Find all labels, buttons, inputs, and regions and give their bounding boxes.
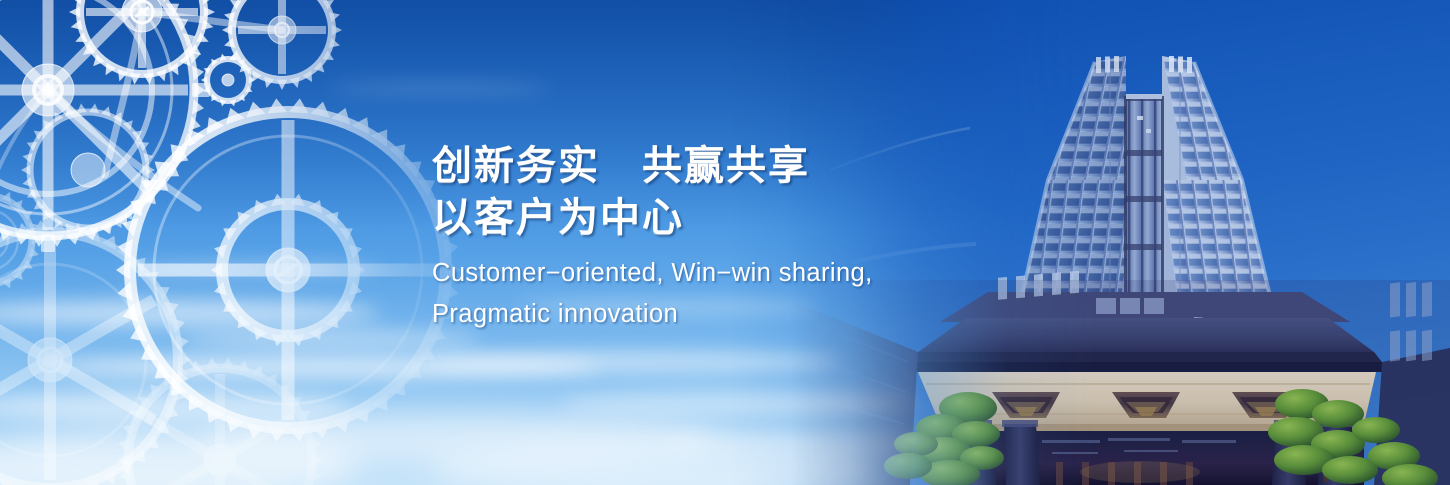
tower-core (1124, 94, 1164, 296)
headline-block: 创新务实 共赢共享 以客户为中心 Customer−oriented, Win−… (432, 140, 952, 335)
headline-cn-line-2: 以客户为中心 (432, 192, 952, 244)
hero-banner: 创新务实 共赢共享 以客户为中心 Customer−oriented, Win−… (0, 0, 1450, 485)
headline-en-line-1: Customer−oriented, Win−win sharing, (432, 253, 952, 294)
headline-en-line-2: Pragmatic innovation (432, 294, 952, 335)
headline-cn-line-1: 创新务实 共赢共享 (432, 140, 952, 192)
